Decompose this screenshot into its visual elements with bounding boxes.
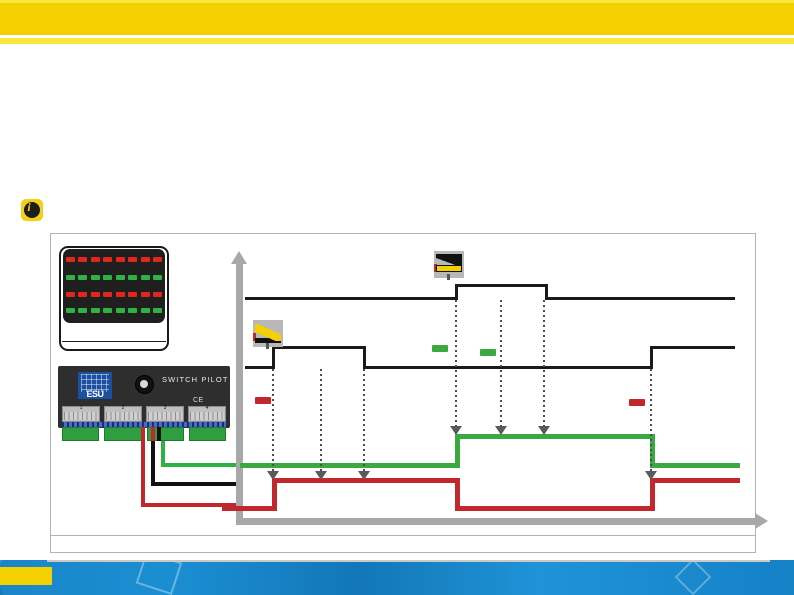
page-number bbox=[8, 566, 48, 580]
trace-segment bbox=[363, 366, 650, 369]
event-marker-arrow-icon bbox=[495, 426, 507, 435]
figure-caption bbox=[50, 535, 756, 553]
x-axis-arrow-icon bbox=[755, 513, 768, 529]
signal-icon-clear bbox=[253, 320, 283, 347]
event-marker-line bbox=[363, 369, 365, 473]
y-axis bbox=[236, 263, 243, 525]
trace-segment bbox=[222, 506, 272, 511]
top-banner-main bbox=[0, 3, 794, 35]
top-banner-bottom-white bbox=[0, 44, 794, 47]
page-root: i bbox=[0, 0, 794, 595]
signal-icon-stop bbox=[434, 251, 464, 278]
timing-diagram bbox=[50, 233, 756, 538]
event-marker-line bbox=[272, 369, 274, 473]
trace-edge bbox=[650, 346, 653, 369]
trace-edge bbox=[455, 434, 460, 468]
event-marker-arrow-icon bbox=[538, 426, 550, 435]
trace-segment bbox=[650, 463, 740, 468]
y-axis-arrow-icon bbox=[231, 251, 247, 264]
bottom-banner bbox=[0, 560, 794, 595]
signal-icon-stem bbox=[266, 343, 269, 349]
trace-segment bbox=[650, 346, 735, 349]
info-icon-glyph: i bbox=[21, 199, 37, 215]
event-marker-line bbox=[650, 369, 652, 473]
event-marker-arrow-icon bbox=[315, 471, 327, 480]
trace-segment bbox=[455, 506, 655, 511]
event-marker-arrow-icon bbox=[267, 471, 279, 480]
state-chip-red bbox=[629, 399, 645, 406]
x-axis bbox=[236, 518, 755, 525]
trace-segment bbox=[455, 434, 655, 439]
trace-segment bbox=[545, 297, 735, 300]
event-marker-line bbox=[500, 300, 502, 428]
event-marker-line bbox=[455, 300, 457, 428]
trace-edge bbox=[272, 346, 275, 369]
trace-segment bbox=[455, 284, 548, 287]
signal-icon-stem bbox=[447, 274, 450, 280]
event-marker-arrow-icon bbox=[358, 471, 370, 480]
event-marker-line bbox=[320, 369, 322, 473]
event-marker-line bbox=[543, 300, 545, 428]
event-marker-arrow-icon bbox=[645, 471, 657, 480]
bottom-banner-rule bbox=[47, 560, 770, 562]
signal-icon-yellow-diagonal bbox=[255, 324, 281, 341]
state-chip-green bbox=[480, 349, 496, 356]
signal-icon-yellow-bar bbox=[436, 265, 462, 272]
top-banner bbox=[0, 0, 794, 47]
trace-segment bbox=[245, 366, 272, 369]
info-icon: i bbox=[21, 199, 43, 221]
trace-segment bbox=[272, 346, 366, 349]
trace-segment bbox=[650, 478, 740, 483]
state-chip-red bbox=[255, 397, 271, 404]
trace-segment bbox=[245, 297, 455, 300]
event-marker-arrow-icon bbox=[450, 426, 462, 435]
state-chip-green bbox=[432, 345, 448, 352]
